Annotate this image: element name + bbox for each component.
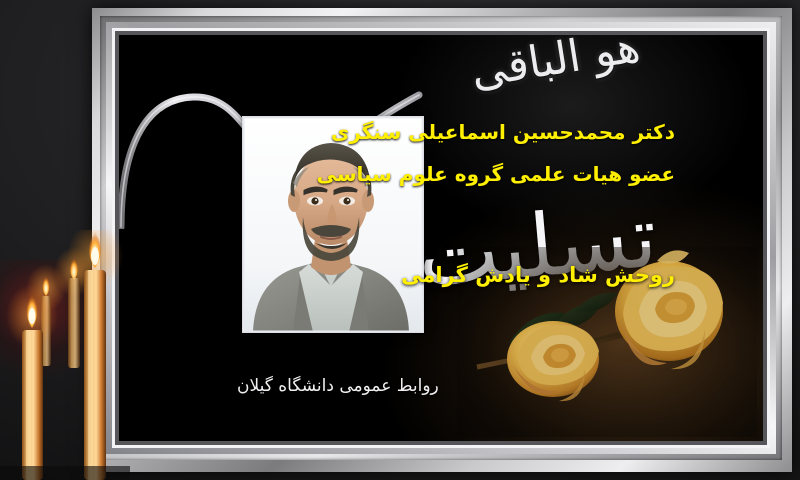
memorial-phrase: روحش شاد و یادش گرامی (401, 257, 675, 293)
deceased-name: دکتر محمدحسین اسماعیلی سنگری (335, 111, 675, 153)
signature-public-relations: روابط عمومی دانشگاه گیلان (237, 373, 439, 399)
deceased-title: عضو هیات علمی گروه علوم سیاسی (335, 153, 675, 195)
deceased-info-block: دکتر محمدحسین اسماعیلی سنگری عضو هیات عل… (335, 111, 675, 195)
poster-canvas: تسلیت هو الباقی (119, 35, 763, 441)
frame-shadow-line: تسلیت هو الباقی (115, 31, 767, 445)
picture-frame: تسلیت هو الباقی (92, 8, 792, 472)
memorial-poster: تسلیت هو الباقی (0, 0, 800, 480)
frame-bevel-outer: تسلیت هو الباقی (100, 16, 782, 460)
frame-bevel-inner: تسلیت هو الباقی (106, 22, 776, 454)
frame-highlight-line: تسلیت هو الباقی (112, 28, 770, 448)
candles-decoration (0, 230, 130, 480)
